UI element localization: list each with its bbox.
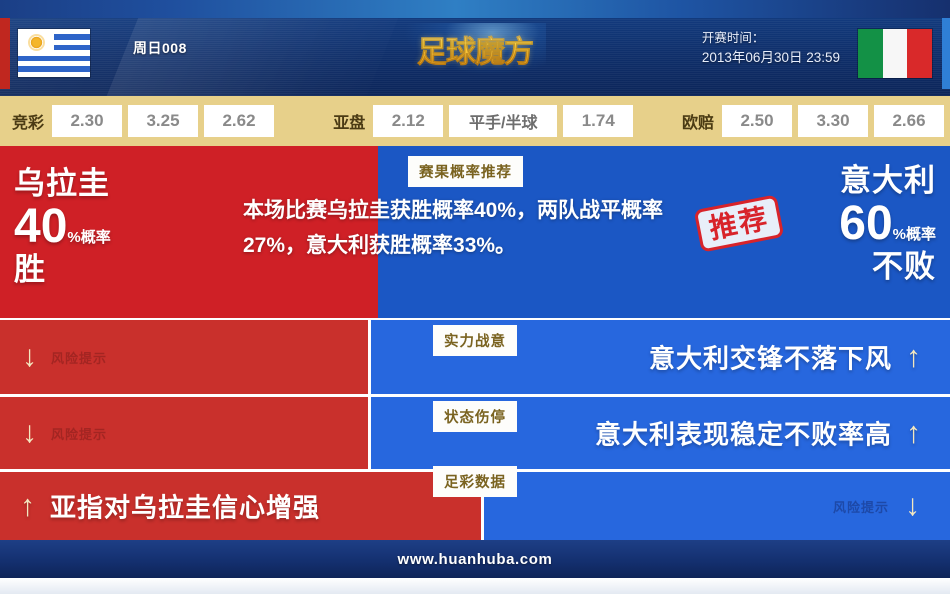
risk-label: 风险提示 — [51, 424, 107, 443]
odds-bar: 竞彩 2.30 3.25 2.62 亚盘 2.12 平手/半球 1.74 欧赔 … — [0, 96, 950, 146]
odds-label-yapan: 亚盘 — [333, 109, 365, 133]
odds-label-jingcai: 竞彩 — [12, 109, 44, 133]
home-team-block: 乌拉圭 40%概率 胜 — [14, 166, 111, 288]
odds-handicap[interactable]: 平手/半球 — [449, 105, 557, 137]
uruguay-flag-icon — [18, 29, 90, 77]
home-result: 胜 — [14, 252, 111, 288]
footer-bar: www.huanhuba.com — [0, 540, 950, 578]
odds-value[interactable]: 3.25 — [128, 105, 198, 137]
risk-note-left-2: ↓ 风险提示 — [22, 418, 107, 448]
risk-label: 风险提示 — [833, 497, 889, 516]
probability-summary-text: 本场比赛乌拉圭获胜概率40%，两队战平概率27%，意大利获胜概率33%。 — [243, 193, 683, 263]
header-red-accent — [0, 18, 10, 89]
top-accent-strip — [0, 0, 950, 18]
bottom-fade — [0, 578, 950, 594]
risk-label: 风险提示 — [51, 348, 107, 367]
away-probability-suffix: %概率 — [893, 226, 936, 243]
risk-note-left-1: ↓ 风险提示 — [22, 342, 107, 372]
infographic-root: 周日008 足球魔方 开赛时间： 2013年06月30日 23:59 竞彩 2.… — [0, 0, 950, 594]
odds-value[interactable]: 2.30 — [52, 105, 122, 137]
odds-group-oupei: 欧赔 2.50 3.30 2.66 — [670, 105, 950, 137]
odds-value[interactable]: 1.74 — [563, 105, 633, 137]
odds-value[interactable]: 2.12 — [373, 105, 443, 137]
home-team-name: 乌拉圭 — [14, 166, 111, 202]
section-badge-strength: 实力战意 — [433, 325, 517, 356]
header-blue-accent — [942, 18, 950, 89]
insight-text-1-label: 意大利交锋不落下风 — [649, 339, 892, 376]
site-logo[interactable]: 足球魔方 — [404, 23, 546, 75]
up-arrow-icon: ↑ — [906, 418, 922, 448]
kickoff-label: 开赛时间： — [702, 29, 840, 48]
uruguay-sun-icon — [30, 36, 43, 49]
down-arrow-icon: ↓ — [22, 418, 37, 448]
home-probability: 40 — [14, 200, 67, 253]
insight-text-2-label: 意大利表现稳定不败率高 — [595, 415, 892, 452]
odds-value[interactable]: 3.30 — [798, 105, 868, 137]
odds-value[interactable]: 2.50 — [722, 105, 792, 137]
kickoff-block: 开赛时间： 2013年06月30日 23:59 — [702, 29, 840, 67]
home-probability-suffix: %概率 — [67, 229, 110, 246]
site-logo-text: 足球魔方 — [417, 27, 533, 71]
down-arrow-icon: ↓ — [22, 342, 37, 372]
insight-text-1: 意大利交锋不落下风 ↑ — [649, 339, 922, 376]
away-probability: 60 — [839, 197, 892, 250]
up-arrow-icon: ↑ — [906, 342, 922, 372]
up-arrow-icon: ↑ — [20, 491, 36, 521]
site-url[interactable]: www.huanhuba.com — [398, 551, 553, 568]
odds-group-yapan: 亚盘 2.12 平手/半球 1.74 — [321, 105, 639, 137]
risk-note-right-3: 风险提示 ↓ — [833, 491, 920, 521]
odds-label-oupei: 欧赔 — [682, 109, 714, 133]
away-team-block: 意大利 60%概率 不败 — [839, 163, 936, 285]
odds-value[interactable]: 2.66 — [874, 105, 944, 137]
kickoff-time: 2013年06月30日 23:59 — [702, 48, 840, 67]
away-result: 不败 — [839, 249, 936, 285]
insight-text-3: ↑ 亚指对乌拉圭信心增强 — [20, 488, 320, 525]
down-arrow-icon: ↓ — [905, 491, 920, 521]
section-badge-betting-data: 足彩数据 — [433, 466, 517, 497]
recommend-stamp-text: 推荐 — [707, 203, 772, 245]
insight-text-2: 意大利表现稳定不败率高 ↑ — [595, 415, 922, 452]
section-badge-form: 状态伤停 — [433, 401, 517, 432]
match-number: 周日008 — [133, 38, 187, 58]
odds-group-jingcai: 竞彩 2.30 3.25 2.62 — [0, 105, 280, 137]
italy-flag-icon — [858, 29, 932, 78]
odds-value[interactable]: 2.62 — [204, 105, 274, 137]
section-badge-probability: 赛果概率推荐 — [408, 156, 523, 187]
insight-text-3-label: 亚指对乌拉圭信心增强 — [50, 488, 320, 525]
away-team-name: 意大利 — [839, 163, 936, 199]
